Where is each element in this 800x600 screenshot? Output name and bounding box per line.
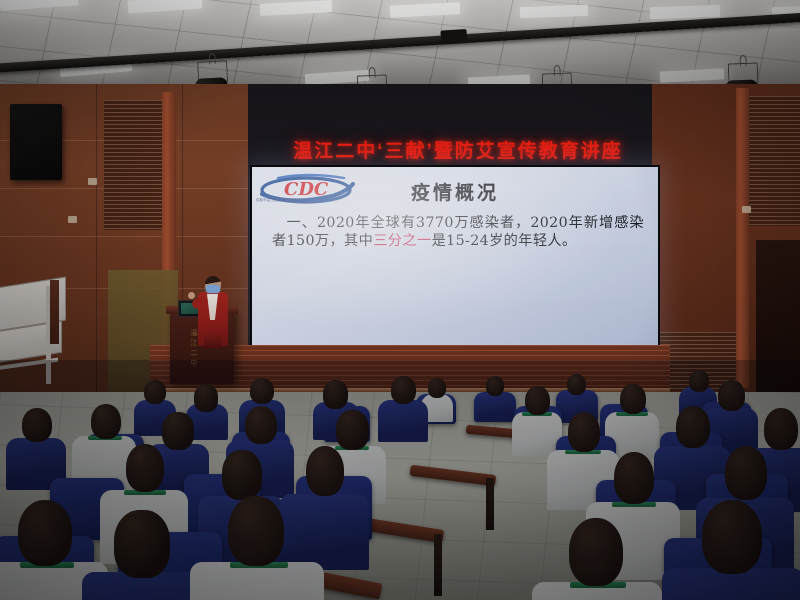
speaker-lower-body <box>204 332 222 348</box>
wall-seam <box>0 236 248 237</box>
person-head <box>91 404 121 439</box>
person-head <box>676 406 710 448</box>
speaker-hand <box>188 292 195 299</box>
body-line-1: 2020年全球有3770万感染者，2020年新 <box>317 215 599 231</box>
person-head <box>764 408 798 450</box>
person-head <box>568 412 600 452</box>
body-line-2b: 是15-24岁的 <box>432 233 519 249</box>
person-head <box>567 374 586 395</box>
seat-leg <box>486 478 494 530</box>
person-head <box>228 496 284 566</box>
audience-member <box>556 518 636 600</box>
person-head <box>144 380 166 404</box>
person-head <box>18 500 72 566</box>
seat-armrest <box>410 465 497 486</box>
audience-member <box>614 384 650 444</box>
body-highlight: 三分之一 <box>373 233 431 249</box>
wall-loudspeaker <box>10 104 62 180</box>
audience-member <box>16 408 56 478</box>
body-line-3: 年轻人。 <box>518 233 576 249</box>
audience-member <box>104 510 180 600</box>
person-hair <box>114 510 170 578</box>
person-head <box>614 452 654 504</box>
person-head <box>689 370 709 392</box>
seat-leg <box>434 534 442 596</box>
wall-pillar-right <box>736 88 749 388</box>
auditorium-photo: 温江二中‘三献’暨防艾宣传教育讲座 CDC 成都市温江区疾病预防控制中心 疫情概… <box>0 0 800 600</box>
ribbed-wood-panel-right <box>749 96 800 226</box>
slide-title: 疫情概况 <box>252 178 658 205</box>
projection-screen: CDC 成都市温江区疾病预防控制中心 疫情概况 一、2020年全球有3770万感… <box>250 165 660 349</box>
person-head <box>306 446 344 496</box>
face-mask-icon <box>206 285 220 293</box>
person-head <box>525 386 550 415</box>
ribbed-wood-panel-left <box>104 100 162 230</box>
audience-member <box>6 500 84 600</box>
projected-slide: CDC 成都市温江区疾病预防控制中心 疫情概况 一、2020年全球有3770万感… <box>252 167 658 347</box>
person-head <box>126 444 164 492</box>
list-marker: 一、 <box>286 215 317 231</box>
wall-outlet <box>88 178 97 185</box>
audience-member <box>560 412 606 492</box>
audience-member <box>386 376 420 434</box>
audience-member <box>296 446 352 544</box>
truss-junction-box <box>441 29 468 45</box>
person-torso <box>478 392 512 422</box>
person-head <box>428 378 446 398</box>
person-torso <box>378 400 428 442</box>
audience-member <box>214 496 298 600</box>
person-hair <box>194 384 218 412</box>
wall-outlet <box>742 206 751 213</box>
audience-member <box>520 386 554 444</box>
person-head <box>250 378 274 404</box>
person-head <box>22 408 52 442</box>
event-banner-title: 温江二中‘三献’暨防艾宣传教育讲座 <box>248 136 668 162</box>
person-head <box>718 380 745 411</box>
speaker-person <box>196 276 230 346</box>
person-head <box>245 406 277 444</box>
person-head <box>702 500 762 574</box>
podium-label-char: 二 <box>191 350 198 357</box>
audience-member <box>688 500 776 600</box>
person-hair <box>222 450 262 500</box>
wall-outlet <box>68 216 77 223</box>
person-hair <box>323 380 348 409</box>
table-edge <box>50 280 59 344</box>
person-head <box>620 384 646 414</box>
person-head <box>725 446 767 500</box>
person-head <box>391 376 416 404</box>
person-head <box>486 376 504 396</box>
person-head <box>569 518 623 586</box>
person-torso <box>512 412 562 456</box>
slide-body-text: 一、2020年全球有3770万感染者，2020年新增感染者150万，其中三分之一… <box>272 214 644 250</box>
audience <box>0 360 800 600</box>
person-hair <box>336 410 369 450</box>
audience-member <box>482 376 508 418</box>
